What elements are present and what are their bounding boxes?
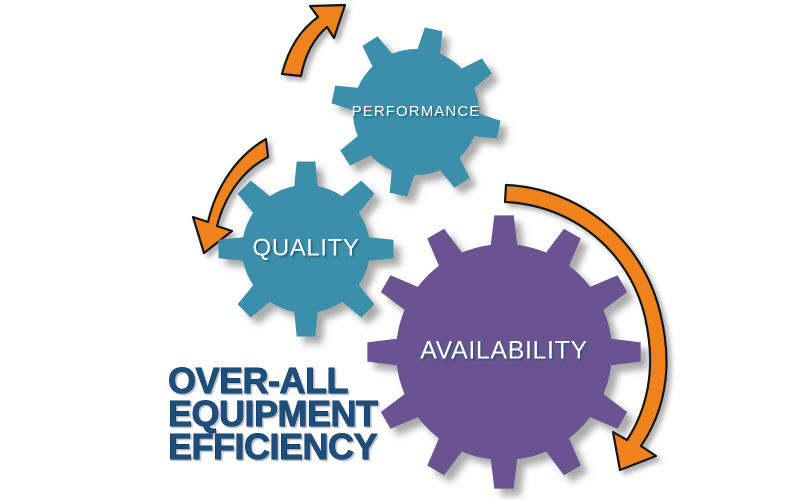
gear-performance-label: PERFORMANCE <box>352 103 481 120</box>
page-title: OVER-ALL EQUIPMENT EFFICIENCY <box>168 360 378 467</box>
gear-quality[interactable]: QUALITY <box>218 161 393 336</box>
title-line-3: EFFICIENCY <box>168 426 378 467</box>
gear-availability[interactable]: AVAILABILITY <box>367 215 640 488</box>
oee-diagram-canvas: PERFORMANCE QUALITY AVAILABILITY OVER-AL… <box>0 0 800 500</box>
arrow-up-right-icon <box>282 5 345 76</box>
gear-performance[interactable]: PERFORMANCE <box>331 27 500 196</box>
gear-availability-label: AVAILABILITY <box>420 337 587 365</box>
arrow-up-to-performance <box>282 5 345 76</box>
gear-quality-label: QUALITY <box>253 234 360 261</box>
oee-gear-diagram: PERFORMANCE QUALITY AVAILABILITY OVER-AL… <box>0 0 800 500</box>
